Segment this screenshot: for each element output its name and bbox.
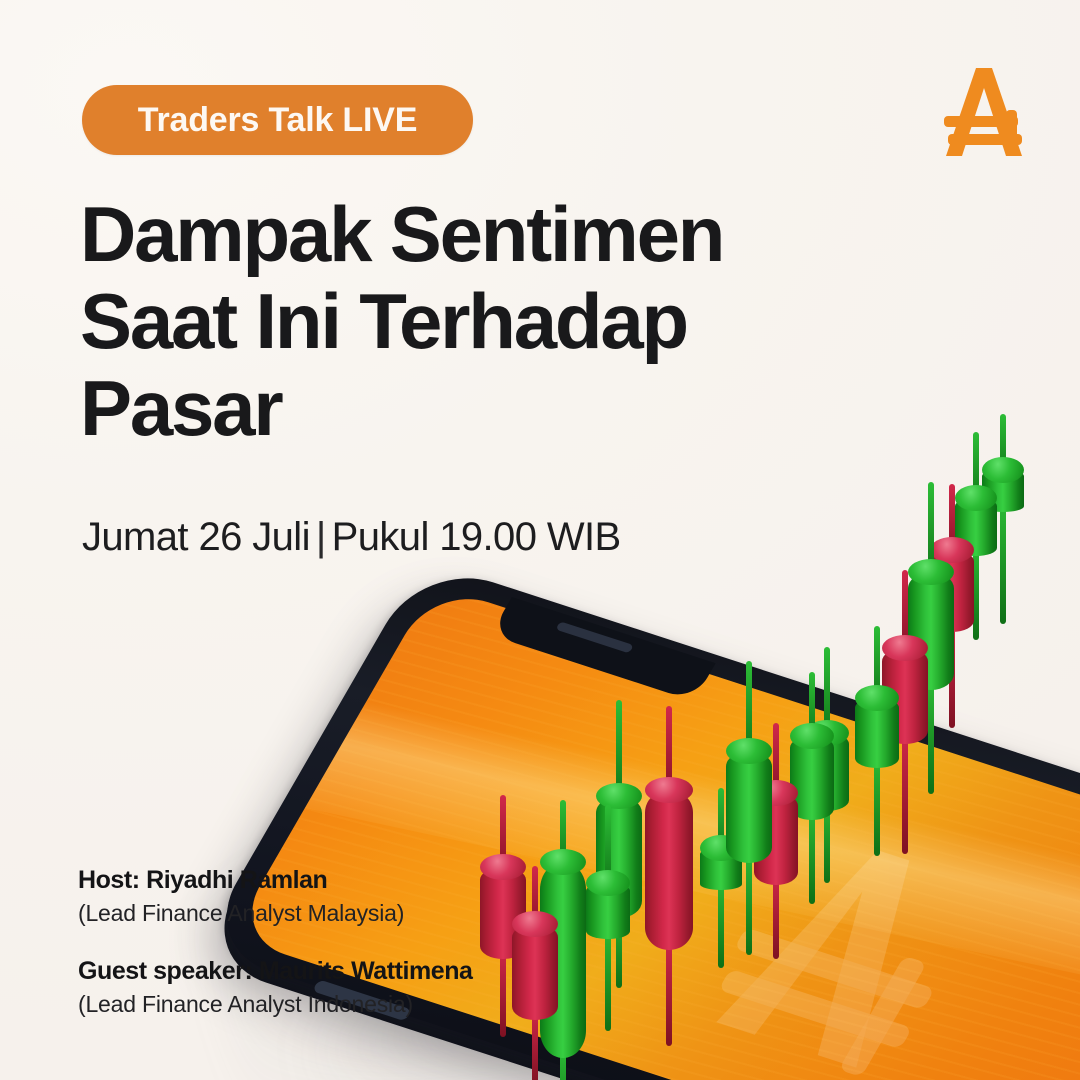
brand-logo-a-icon [936, 62, 1032, 162]
guest-role: (Lead Finance Analyst Indonesia) [78, 990, 548, 1020]
credit-host: Host: Riyadhi Ramlan (Lead Finance Analy… [78, 865, 548, 928]
headline-line-2: Saat Ini Terhadap [80, 283, 800, 360]
guest-name: Guest speaker: Maurits Wattimena [78, 956, 548, 987]
headline-line-1: Dampak Sentimen [80, 196, 800, 273]
event-datetime: Jumat 26 Juli|Pukul 19.00 WIB [82, 515, 621, 560]
live-badge[interactable]: Traders Talk LIVE [82, 85, 473, 155]
headline-line-3: Pasar [80, 370, 800, 447]
event-time: Pukul 19.00 WIB [332, 515, 621, 559]
credit-guest: Guest speaker: Maurits Wattimena (Lead F… [78, 956, 548, 1019]
poster-canvas: Traders Talk LIVE Dampak Sentimen Saat I… [0, 0, 1080, 1080]
page-title: Dampak Sentimen Saat Ini Terhadap Pasar [80, 196, 800, 458]
host-role: (Lead Finance Analyst Malaysia) [78, 899, 548, 929]
datetime-separator: | [310, 515, 332, 560]
host-name: Host: Riyadhi Ramlan [78, 865, 548, 896]
live-badge-label: Traders Talk LIVE [138, 101, 417, 140]
event-date: Jumat 26 Juli [82, 515, 310, 559]
speaker-credits: Host: Riyadhi Ramlan (Lead Finance Analy… [78, 865, 548, 1020]
